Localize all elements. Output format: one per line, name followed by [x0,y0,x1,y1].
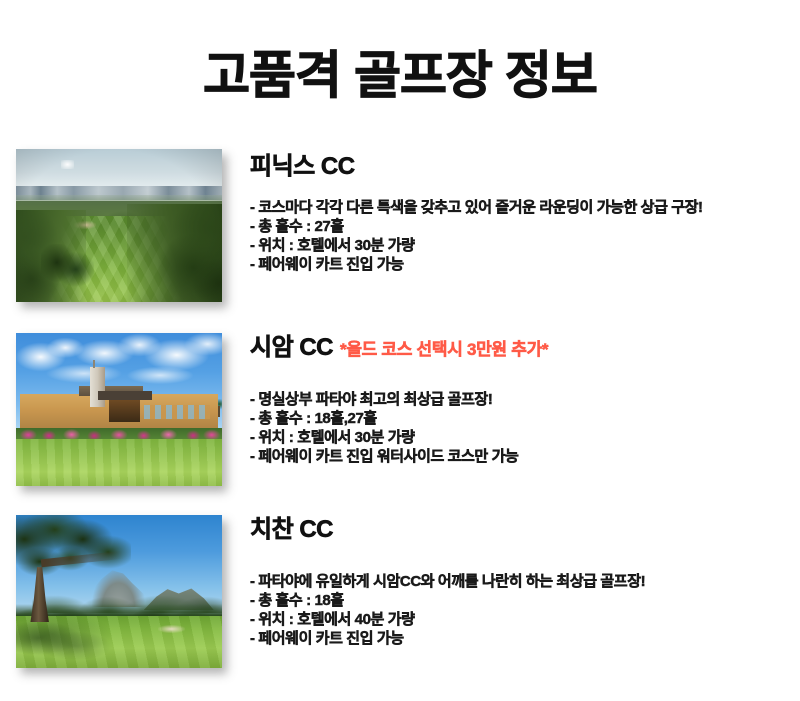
course-details-siam: - 명실상부 파타야 최고의 최상급 골프장! - 총 홀수 : 18홀,27홀… [250,390,795,466]
course-details-chichan: - 파타야에 유일하게 시암CC와 어깨를 나란히 하는 최상급 골프장! - … [250,572,795,648]
course-name-note: *올드 코스 선택시 3만원 추가* [340,340,548,359]
course-name-text: 시암 CC [250,334,333,361]
course-section-siam: 시암 CC*올드 코스 선택시 3만원 추가* - 명실상부 파타야 최고의 최… [0,321,800,503]
list-item: - 페어웨이 카트 진입 가능 [250,255,795,274]
course-section-phoenix: 피닉스 CC - 코스마다 각각 다른 특색을 갖추고 있어 즐거운 라운딩이 … [0,137,800,319]
page-title: 고품격 골프장 정보 [0,34,800,101]
course-photo-siam [16,333,222,486]
tree-shadow [16,622,140,662]
course-photo-phoenix [16,149,222,302]
course-details-phoenix: - 코스마다 각각 다른 특색을 갖추고 있어 즐거운 라운딩이 가능한 상급 … [250,198,795,274]
list-item: - 총 홀수 : 18홀 [250,591,795,610]
list-item: - 페어웨이 카트 진입 워터사이드 코스만 가능 [250,447,795,466]
course-name-phoenix: 피닉스 CC [250,154,795,180]
putting-green [16,439,222,486]
list-item: - 위치 : 호텔에서 30분 가량 [250,236,795,255]
photo-aerial-fairway [16,149,222,302]
list-item: - 총 홀수 : 18홀,27홀 [250,409,795,428]
list-item: - 코스마다 각각 다른 특색을 갖추고 있어 즐거운 라운딩이 가능한 상급 … [250,198,795,217]
list-item: - 위치 : 호텔에서 40분 가량 [250,610,795,629]
sand-bunker [158,625,185,633]
course-photo-chichan [16,515,222,668]
clubhouse-roof [98,391,152,400]
course-name-text: 피닉스 CC [250,153,355,180]
list-item: - 파타야에 유일하게 시암CC와 어깨를 나란히 하는 최상급 골프장! [250,572,795,591]
list-item: - 페어웨이 카트 진입 가능 [250,629,795,648]
course-name-text: 치찬 CC [250,516,333,543]
photo-vignette [16,149,222,302]
clubhouse-windows [144,405,210,419]
clubhouse-tower [90,367,104,407]
list-item: - 총 홀수 : 27홀 [250,217,795,236]
course-text-phoenix: 피닉스 CC - 코스마다 각각 다른 특색을 갖추고 있어 즐거운 라운딩이 … [250,137,795,273]
photo-clubhouse [16,333,222,486]
clubhouse-entrance [109,400,140,421]
course-section-chichan: 치찬 CC - 파타야에 유일하게 시암CC와 어깨를 나란히 하는 최상급 골… [0,503,800,685]
course-name-siam: 시암 CC*올드 코스 선택시 3만원 추가* [250,335,795,361]
photo-tree-and-mountain [16,515,222,668]
list-item: - 명실상부 파타야 최고의 최상급 골프장! [250,390,795,409]
course-text-siam: 시암 CC*올드 코스 선택시 3만원 추가* - 명실상부 파타야 최고의 최… [250,321,795,465]
course-name-chichan: 치찬 CC [250,517,795,543]
course-text-chichan: 치찬 CC - 파타야에 유일하게 시암CC와 어깨를 나란히 하는 최상급 골… [250,503,795,647]
list-item: - 위치 : 호텔에서 30분 가량 [250,428,795,447]
